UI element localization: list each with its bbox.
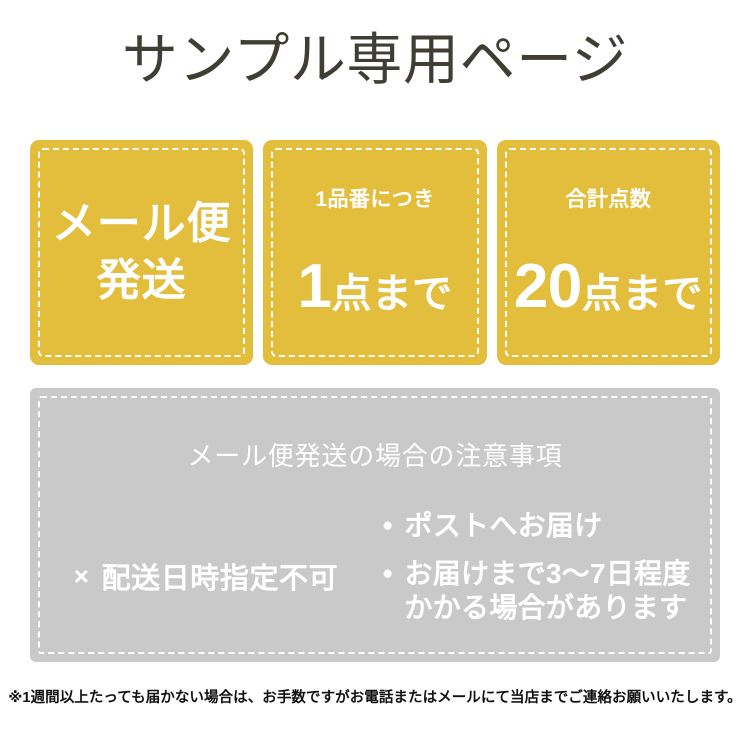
bullet-text: ポストへお届け: [404, 509, 602, 543]
no-delivery-date-notice: × 配送日時指定不可: [74, 555, 338, 597]
feature-box-content: 1品番につき 1点まで: [263, 187, 486, 318]
feature-box-content: メール便 発送: [30, 196, 253, 309]
shipping-method-label: メール便 発送: [30, 196, 253, 309]
shipping-method-line-1: メール便: [30, 196, 253, 252]
no-delivery-date-label: 配送日時指定不可: [102, 555, 339, 597]
per-item-limit-heading: 1品番につき: [263, 187, 486, 212]
bullet-line-2: かかる場合があります: [404, 591, 690, 625]
notice-panel: メール便発送の場合の注意事項 × 配送日時指定不可 ● ポストへお届け ●: [30, 388, 720, 662]
list-item: ● ポストへお届け: [382, 509, 720, 543]
bullet-line-1: お届けまで3〜7日程度: [404, 557, 690, 591]
feature-box-per-item-limit: 1品番につき 1点まで: [263, 140, 486, 365]
total-limit-unit: 点まで: [582, 272, 703, 316]
sample-shipping-banner: サンプル専用ページ メール便 発送 1品番につき 1点まで 合計点: [0, 0, 750, 750]
total-limit-heading: 合計点数: [497, 187, 720, 212]
per-item-limit-number: 1: [297, 252, 331, 321]
notice-left-column: × 配送日時指定不可: [30, 506, 382, 646]
bullet-dot-icon: ●: [382, 557, 393, 591]
notice-panel-body: × 配送日時指定不可 ● ポストへお届け ● お届けまで3〜7日程度 かかる場合…: [30, 506, 720, 646]
total-limit-number: 20: [514, 252, 582, 321]
total-limit-value: 20点まで: [497, 256, 720, 318]
feature-box-content: 合計点数 20点まで: [497, 187, 720, 318]
bullet-line-1: ポストへお届け: [404, 509, 602, 543]
shipping-method-line-2: 発送: [30, 253, 253, 309]
notice-right-column: ● ポストへお届け ● お届けまで3〜7日程度 かかる場合があります: [382, 506, 720, 625]
footer-note: ※1週間以上たっても届かない場合は、お手数ですがお電話またはメールにて当店までご…: [0, 686, 750, 707]
feature-box-total-limit: 合計点数 20点まで: [497, 140, 720, 365]
list-item: ● お届けまで3〜7日程度 かかる場合があります: [382, 557, 720, 625]
feature-box-shipping-method: メール便 発送: [30, 140, 253, 365]
per-item-limit-value: 1点まで: [263, 256, 486, 318]
feature-box-row: メール便 発送 1品番につき 1点まで 合計点数 20点まで: [30, 140, 720, 365]
per-item-limit-unit: 点まで: [331, 272, 452, 316]
page-title: サンプル専用ページ: [0, 28, 750, 92]
notice-panel-title: メール便発送の場合の注意事項: [30, 436, 720, 473]
cross-icon: ×: [74, 563, 90, 589]
bullet-text: お届けまで3〜7日程度 かかる場合があります: [404, 557, 690, 625]
bullet-dot-icon: ●: [382, 509, 393, 543]
